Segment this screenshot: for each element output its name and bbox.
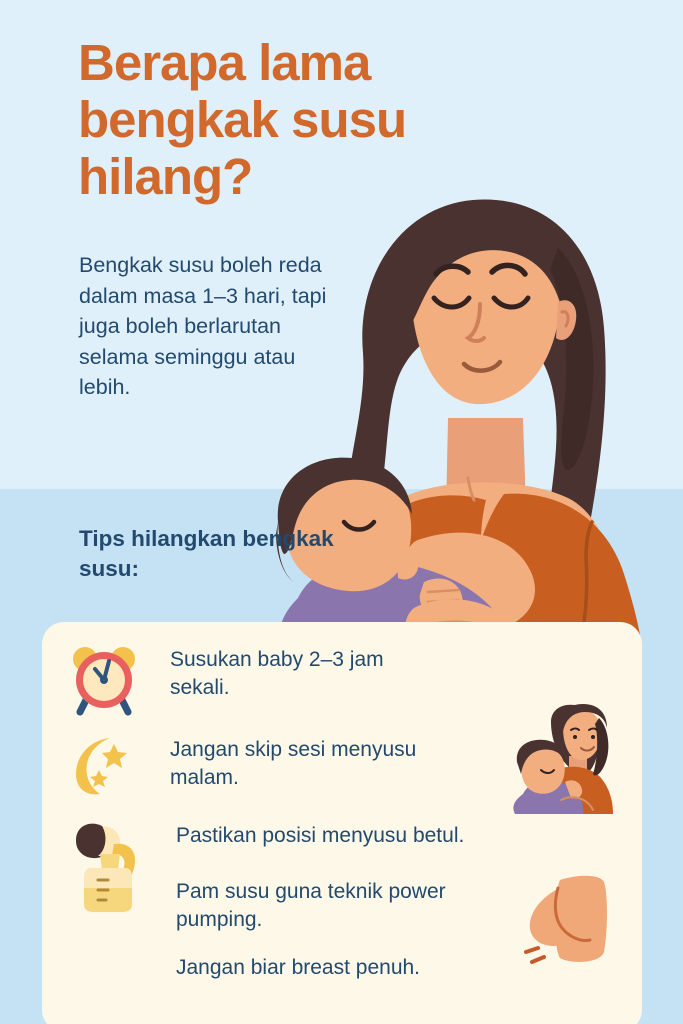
tips-section-heading: Tips hilangkan bengkak susu: xyxy=(79,524,349,585)
tip-item: Jangan skip sesi menyusu malam. xyxy=(68,732,420,798)
page-title-line-2: bengkak susu xyxy=(78,91,508,148)
page-title-line-1: Berapa lama xyxy=(78,34,508,91)
mother-holding-baby-small-illustration xyxy=(507,704,627,814)
tip-item: Jangan biar breast penuh. xyxy=(176,954,526,982)
tip-item: Pam susu guna teknik power pumping. xyxy=(176,878,456,934)
infographic-poster: Berapa lama bengkak susu hilang? Bengkak… xyxy=(0,0,683,1024)
tip-item: Susukan baby 2–3 jam sekali. xyxy=(68,642,420,716)
engorged-breast-illustration xyxy=(512,860,642,970)
tips-card: Susukan baby 2–3 jam sekali. Jangan skip… xyxy=(42,622,642,1024)
page-title: Berapa lama bengkak susu hilang? xyxy=(78,34,508,205)
alarm-clock-icon xyxy=(68,642,140,716)
tip-label: Susukan baby 2–3 jam sekali. xyxy=(170,642,420,702)
tip-label: Jangan skip sesi menyusu malam. xyxy=(170,732,420,792)
page-title-line-3: hilang? xyxy=(78,148,508,205)
tip-label: Jangan biar breast penuh. xyxy=(176,954,526,982)
tip-label: Pastikan posisi menyusu betul. xyxy=(176,818,566,850)
breast-pump-icon xyxy=(68,818,144,914)
intro-paragraph: Bengkak susu boleh reda dalam masa 1–3 h… xyxy=(79,250,334,403)
crescent-moon-stars-icon xyxy=(68,732,132,798)
tip-label: Pam susu guna teknik power pumping. xyxy=(176,878,456,934)
